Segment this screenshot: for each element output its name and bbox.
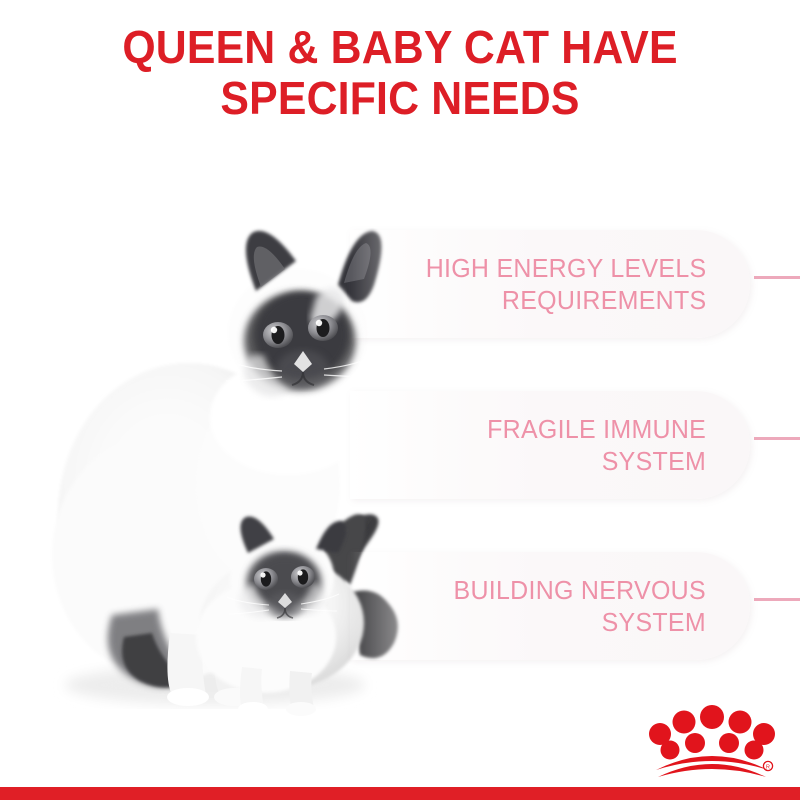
page-title-line-2: SPECIFIC NEEDS <box>28 73 772 124</box>
callout-building-nervous: BUILDING NERVOUS SYSTEM <box>350 552 750 660</box>
callout-high-energy: HIGH ENERGY LEVELS REQUIREMENTS <box>350 230 750 338</box>
footer-accent-bar <box>0 787 800 800</box>
page-title: QUEEN & BABY CAT HAVE SPECIFIC NEEDS <box>28 22 772 124</box>
poster-canvas: QUEEN & BABY CAT HAVE SPECIFIC NEEDS <box>0 0 800 800</box>
callout-high-energy-label: HIGH ENERGY LEVELS REQUIREMENTS <box>425 252 706 316</box>
callout-fragile-immune: FRAGILE IMMUNE SYSTEM <box>350 391 750 499</box>
page-title-line-1: QUEEN & BABY CAT HAVE <box>28 22 772 73</box>
callout-connector-line-3 <box>754 598 800 601</box>
callout-fragile-immune-label: FRAGILE IMMUNE SYSTEM <box>487 413 706 477</box>
royal-canin-crown-icon: R <box>648 698 776 778</box>
callout-connector-line-2 <box>754 437 800 440</box>
callout-connector-line-1 <box>754 276 800 279</box>
svg-text:R: R <box>766 765 770 771</box>
registered-mark-icon: R <box>763 761 772 770</box>
callout-building-nervous-label: BUILDING NERVOUS SYSTEM <box>454 574 706 638</box>
